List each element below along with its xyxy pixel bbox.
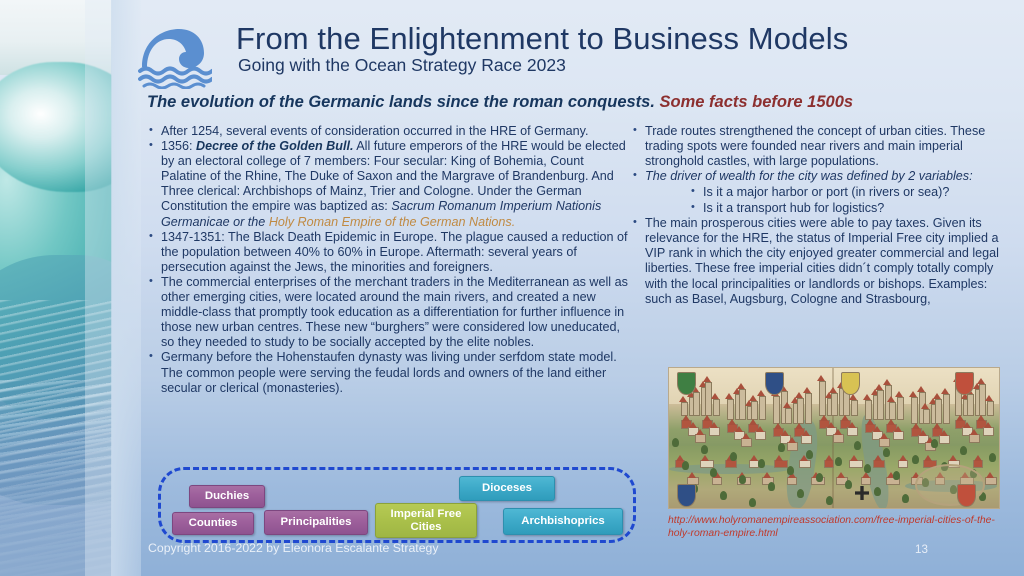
map-detail [887,419,895,425]
map-detail [893,471,900,480]
map-detail [933,423,941,429]
bullet-item: The driver of wealth for the city was de… [632,169,1010,216]
map-detail [865,400,872,420]
map-detail [921,403,929,409]
map-detail [774,460,788,468]
headline-main: The evolution of the Germanic lands sinc… [147,93,655,111]
sub-bullet-item: Is it a transport hub for logistics? [691,201,1010,216]
text-run: Trade routes strengthened the concept of… [645,124,985,168]
text-run: 1347-1351: The Black Death Epidemic in E… [161,230,628,274]
map-detail [712,477,722,485]
page-subtitle: Going with the Ocean Strategy Race 2023 [238,55,566,76]
map-detail [739,475,746,484]
map-detail [768,482,775,491]
slide-canvas: From the Enlightenment to Business Model… [0,0,1024,576]
map-detail [725,393,733,399]
bullet-item: 1347-1351: The Black Death Epidemic in E… [148,230,630,275]
map-detail [912,455,919,464]
bullet-item: Trade routes strengthened the concept of… [632,124,1010,169]
text-run: After 1254, several events of considerat… [161,124,588,138]
left-text-column: After 1254, several events of considerat… [148,124,630,396]
map-detail [788,437,796,443]
map-heraldic-shield [955,372,974,395]
map-detail [863,394,871,400]
map-detail [749,498,756,507]
map-detail [845,480,852,489]
map-detail [688,472,696,478]
map-detail [983,427,994,436]
map-detail [834,429,842,435]
map-detail [977,378,985,384]
map-source-caption: http://www.holyromanempireassociation.co… [668,515,1008,540]
map-detail [974,455,982,461]
chip-label: Duchies [205,490,249,503]
headline-accent: Some facts before 1500s [660,93,854,111]
text-run: 1356: [161,139,196,153]
emphasis-bold-italic: Decree of the Golden Bull. [196,139,353,153]
map-detail [759,396,766,420]
map-detail [969,434,980,443]
bullet-item: The main prosperous cities were able to … [632,216,1010,307]
map-detail [897,397,904,420]
map-detail [679,396,687,402]
chip-label: Principalities [281,516,352,529]
map-detail [833,434,844,443]
ocean-wave-logo-icon [138,27,212,89]
map-detail [864,464,871,473]
text-run: The commercial enterprises of the mercha… [161,275,628,349]
map-detail [873,460,885,468]
map-detail [931,439,938,448]
map-detail [689,422,697,428]
map-detail [984,422,992,428]
left-bullet-list: After 1254, several events of considerat… [148,124,630,396]
emphasis-highlight: Holy Roman Empire of the German Nations. [269,215,515,229]
map-detail [820,415,828,421]
page-title: From the Enlightenment to Business Model… [236,23,848,55]
map-detail [877,390,884,420]
map-detail [797,489,804,498]
map-detail [985,477,997,485]
map-imperial-eagle-crest [841,372,860,395]
map-heraldic-shield [765,372,784,395]
emphasis-italic: The driver of wealth for the city was de… [645,169,973,183]
photo-overlay-band [85,0,111,576]
map-detail [755,431,766,440]
map-detail [781,430,789,436]
map-detail [909,391,917,397]
map-detail [879,438,890,447]
map-detail [895,391,903,397]
bullet-item: The commercial enterprises of the mercha… [148,275,630,350]
map-detail [774,423,782,429]
map-detail [696,429,704,435]
map-detail [875,384,883,390]
chip-dioceses[interactable]: Dioceses [459,476,555,501]
map-detail [827,422,835,428]
map-detail [893,431,904,440]
map-detail [824,460,834,468]
copyright-notice: Copyright 2016-2022 by Eleonora Escalant… [148,541,439,555]
map-detail [787,442,798,451]
map-detail [935,399,942,424]
bullet-item: Germany before the Hohenstaufen dynasty … [148,350,630,395]
map-detail [797,398,804,424]
bullet-item: After 1254, several events of considerat… [148,124,630,139]
map-detail [977,415,985,421]
map-detail [887,396,895,402]
map-detail [676,455,684,461]
map-detail [973,460,983,468]
map-detail [816,473,823,482]
map-detail [778,443,785,452]
map-detail [757,390,765,396]
map-detail [989,453,996,462]
map-detail [710,468,717,477]
map-detail [701,445,708,454]
map-detail [880,433,888,439]
map-detail [728,419,736,425]
chip-archbishoprics[interactable]: Archbishoprics [503,508,623,535]
map-detail [889,402,896,420]
map-detail [898,460,908,468]
map-detail [835,457,842,466]
map-detail [837,472,845,478]
map-detail [899,455,907,461]
map-detail [681,402,688,416]
chip-label: Counties [189,517,238,530]
map-heraldic-shield [677,484,696,507]
chip-principalities[interactable]: Principalities [264,510,368,535]
map-detail [763,472,771,478]
map-detail [939,435,950,444]
section-headline: The evolution of the Germanic lands sinc… [147,93,853,112]
map-detail [803,387,811,393]
map-detail [851,400,858,416]
right-text-column: Trade routes strengthened the concept of… [632,124,1010,307]
map-detail [987,401,994,416]
map-detail [787,477,797,485]
map-detail [737,383,745,389]
chip-imperial-free-cities[interactable]: Imperial Free Cities [375,503,477,538]
map-detail [831,393,838,416]
map-detail [725,460,737,468]
map-detail [711,393,719,399]
sub-bullet-item: Is it a major harbor or port (in rivers … [691,185,1010,200]
map-detail [933,393,941,399]
map-detail [941,388,949,394]
map-detail [773,396,780,424]
map-detail [854,441,861,450]
map-detail [750,455,758,461]
map-detail [873,426,881,432]
map-detail [902,494,909,503]
map-heraldic-shield [957,484,976,507]
map-detail [727,399,734,420]
map-detail [963,422,971,428]
map-detail [682,415,690,421]
chip-label: Archbishoprics [521,515,605,528]
map-detail [861,477,871,485]
map-detail [799,460,811,468]
map-detail [695,434,706,443]
map-detail [700,460,714,468]
map-detail [735,426,743,432]
map-detail [848,422,856,428]
map-detail [720,491,727,500]
map-detail [924,455,932,461]
map-detail [956,415,964,421]
map-detail [801,435,812,444]
map-detail [758,459,765,468]
map-detail [923,409,930,424]
right-bullet-list: Trade routes strengthened the concept of… [632,124,1010,307]
chip-counties[interactable]: Counties [172,512,254,535]
map-detail [787,466,794,475]
map-detail [730,452,737,461]
map-detail [742,433,750,439]
chip-label: Dioceses [482,482,532,495]
text-run: The main prosperous cities were able to … [645,216,999,305]
map-detail [703,376,711,382]
map-detail [919,430,927,436]
map-detail [967,394,974,416]
photo-edge-fade [111,0,141,576]
map-detail [701,455,709,461]
map-detail [713,399,720,416]
map-detail [682,461,689,470]
map-heraldic-shield [677,372,696,395]
map-detail [874,455,882,461]
map-detail [741,438,752,447]
map-detail [783,402,791,408]
map-detail [874,487,881,496]
map-detail [795,423,803,429]
map-detail [751,401,758,420]
historic-map-image [668,367,1000,509]
map-detail [806,450,813,459]
map-detail [672,438,679,447]
map-detail [940,430,948,436]
chip-label: Imperial Free Cities [376,508,476,534]
sub-bullet-list: Is it a major harbor or port (in rivers … [645,185,1010,216]
map-detail [749,419,757,425]
map-detail [943,394,950,424]
map-detail [985,395,993,401]
map-detail [785,408,792,424]
page-number: 13 [915,543,928,556]
map-detail [849,460,863,468]
map-detail [917,386,925,392]
map-detail [949,455,957,461]
map-detail [703,415,711,421]
map-detail [710,422,718,428]
map-detail [850,455,858,461]
bullet-item: 1356: Decree of the Golden Bull. All fut… [148,139,630,230]
map-detail [819,381,826,416]
map-detail [960,446,967,455]
map-detail [802,430,810,436]
map-detail [805,393,812,424]
map-detail [847,427,858,436]
map-detail [829,387,837,393]
text-run: Germany before the Hohenstaufen dynasty … [161,350,617,394]
map-detail [912,423,920,429]
map-detail [883,448,890,457]
map-detail [826,496,833,505]
map-detail [866,419,874,425]
chip-duchies[interactable]: Duchies [189,485,265,508]
map-detail [883,379,891,385]
map-detail [705,382,712,416]
map-detail [795,392,803,398]
map-detail [970,429,978,435]
map-detail [817,375,825,381]
map-detail [986,472,994,478]
map-detail [894,426,902,432]
map-detail [749,395,757,401]
map-detail [911,397,918,424]
map-detail [709,427,720,436]
map-detail [693,392,700,416]
map-detail [775,455,783,461]
map-detail [825,455,833,461]
map-detail [841,415,849,421]
map-detail [756,426,764,432]
